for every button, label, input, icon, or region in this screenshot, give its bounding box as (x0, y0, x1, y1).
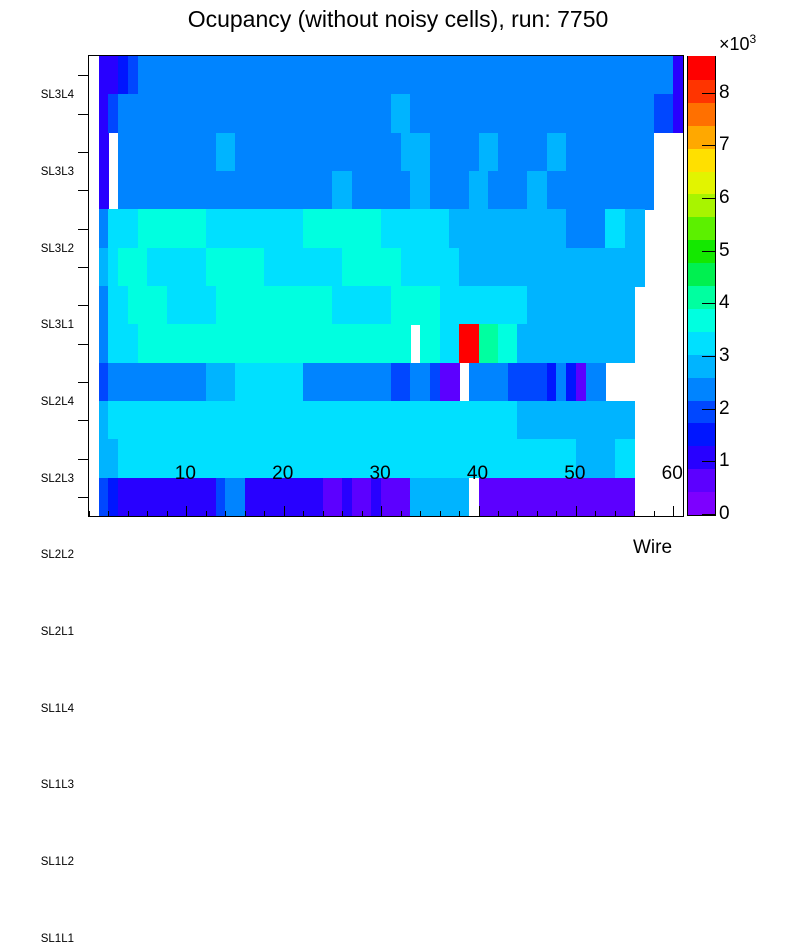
heatmap-cell (586, 363, 606, 402)
heatmap-cell (440, 363, 460, 402)
x-axis-tick-label: 60 (662, 463, 683, 485)
color-scale-band (688, 469, 715, 493)
color-scale-tick-label: 3 (719, 345, 730, 367)
heatmap-cells (89, 56, 683, 516)
heatmap-cell (216, 286, 256, 325)
heatmap-cell (605, 171, 625, 210)
color-scale-tick (702, 303, 715, 304)
y-axis-tick: SL1L1 (78, 497, 89, 498)
heatmap-cell (547, 171, 606, 210)
color-scale-band (688, 377, 715, 401)
heatmap-cell (391, 286, 440, 325)
y-axis-tick: SL2L3 (78, 267, 89, 268)
color-scale-exponent-power: 3 (750, 32, 757, 46)
heatmap-cell (216, 133, 236, 172)
heatmap-cell (303, 363, 391, 402)
heatmap-cell (459, 324, 479, 363)
heatmap-cell (517, 401, 576, 440)
heatmap-cell (673, 56, 683, 95)
x-axis-tick-label: 30 (370, 463, 391, 485)
heatmap-cell (449, 209, 508, 248)
color-scale-bar (687, 56, 716, 516)
heatmap-cell (547, 133, 567, 172)
color-scale-tick (702, 461, 715, 462)
color-scale-band (688, 492, 715, 516)
y-axis-tick-label: SL3L4 (41, 89, 74, 101)
x-axis-minor-tick (225, 511, 226, 517)
heatmap-cell (118, 209, 138, 248)
x-axis-major-tick (576, 506, 577, 517)
color-scale-band (688, 308, 715, 332)
y-axis-tick: SL2L2 (78, 305, 89, 306)
heatmap-cell (605, 401, 635, 440)
x-axis-major-tick (186, 506, 187, 517)
heatmap-cell (430, 171, 470, 210)
color-scale-band (688, 331, 715, 355)
color-scale-band (688, 446, 715, 470)
heatmap-cell (527, 171, 547, 210)
heatmap-cell (284, 324, 411, 363)
heatmap-cell (420, 324, 440, 363)
heatmap-cell (138, 324, 168, 363)
heatmap-cell (216, 324, 246, 363)
heatmap-cell (147, 56, 673, 95)
heatmap-cell (576, 248, 616, 287)
heatmap-cell (206, 209, 304, 248)
heatmap-cell (167, 286, 216, 325)
heatmap-cell (625, 133, 655, 172)
heatmap-cell (634, 94, 654, 133)
heatmap-cell (381, 133, 401, 172)
y-axis-tick-label: SL1L3 (41, 779, 74, 791)
color-scale-tick-label: 0 (719, 503, 730, 525)
heatmap-cell (459, 248, 518, 287)
color-scale-tick-label: 2 (719, 398, 730, 420)
heatmap-cell (625, 171, 655, 210)
y-axis-tick: SL2L4 (78, 229, 89, 230)
color-scale-tick-label: 6 (719, 187, 730, 209)
heatmap-cell (430, 133, 479, 172)
color-scale-tick-label: 4 (719, 292, 730, 314)
heatmap-cell (99, 171, 109, 210)
y-axis-tick-label: SL3L3 (41, 166, 74, 178)
x-axis-major-tick (479, 506, 480, 517)
heatmap-cell (498, 324, 518, 363)
heatmap-cell (527, 286, 576, 325)
heatmap-cell (469, 171, 489, 210)
y-axis-tick: SL1L4 (78, 382, 89, 383)
heatmap-cell (615, 439, 635, 478)
color-scale-tick (702, 251, 715, 252)
heatmap-cell (479, 324, 499, 363)
x-axis-minor-tick (108, 511, 109, 517)
heatmap-cell (625, 209, 645, 248)
heatmap-cell (566, 133, 625, 172)
heatmap-cell (440, 324, 460, 363)
heatmap-cell (605, 209, 625, 248)
color-scale-band (688, 102, 715, 126)
heatmap-cell (332, 286, 391, 325)
color-scale-tick (702, 198, 715, 199)
heatmap-cell (576, 286, 606, 325)
heatmap-cell (118, 324, 138, 363)
heatmap-cell (488, 171, 528, 210)
x-axis-tick-label: 50 (564, 463, 585, 485)
color-scale-band (688, 423, 715, 447)
x-axis-minor-tick (537, 511, 538, 517)
heatmap-cell (206, 248, 265, 287)
color-scale-band (688, 171, 715, 195)
page-title: Ocupancy (without noisy cells), run: 775… (0, 6, 796, 33)
x-axis-minor-tick (206, 511, 207, 517)
color-scale-tick-label: 1 (719, 450, 730, 472)
heatmap-cell (401, 248, 460, 287)
y-axis-tick: SL1L2 (78, 459, 89, 460)
x-axis-major-tick (673, 506, 674, 517)
heatmap-cell (245, 324, 285, 363)
heatmap-cell (410, 363, 430, 402)
heatmap-cell (391, 94, 411, 133)
color-scale-tick (702, 409, 715, 410)
heatmap-cell (108, 286, 128, 325)
heatmap-cell (352, 171, 411, 210)
heatmap-cell (381, 401, 518, 440)
y-axis-tick-label: SL2L4 (41, 396, 74, 408)
heatmap-cell (99, 133, 109, 172)
heatmap-cell (508, 209, 567, 248)
heatmap-cell (410, 171, 430, 210)
heatmap-cell (264, 248, 343, 287)
heatmap-cell (332, 171, 352, 210)
x-axis-minor-tick (556, 511, 557, 517)
color-scale-tick-label: 7 (719, 134, 730, 156)
heatmap-cell (128, 286, 168, 325)
x-axis-minor-tick (342, 511, 343, 517)
heatmap-cell (566, 209, 606, 248)
y-axis-tick: SL3L1 (78, 190, 89, 191)
heatmap-cell (615, 248, 645, 287)
color-scale-band (688, 263, 715, 287)
heatmap-cell (235, 133, 382, 172)
heatmap-cell (576, 324, 635, 363)
heatmap-cell (147, 248, 206, 287)
heatmap-cell (654, 94, 674, 133)
heatmap-frame: SL3L4SL3L3SL3L2SL3L1SL2L4SL2L3SL2L2SL2L1… (88, 55, 684, 517)
color-scale-tick (702, 93, 715, 94)
x-axis-minor-tick (89, 511, 90, 517)
x-axis-minor-tick (323, 511, 324, 517)
x-axis-minor-tick (595, 511, 596, 517)
heatmap-cell (556, 94, 635, 133)
y-axis-tick-label: SL1L1 (41, 933, 74, 945)
color-scale-exponent: ×103 (719, 32, 756, 55)
x-axis-minor-tick (167, 511, 168, 517)
heatmap-cell (401, 133, 431, 172)
color-scale-tick (702, 356, 715, 357)
x-axis-major-tick (381, 506, 382, 517)
color-scale-band (688, 354, 715, 378)
x-axis-minor-tick (362, 511, 363, 517)
heatmap-cell (303, 209, 382, 248)
heatmap-cell (537, 94, 557, 133)
root-canvas: Ocupancy (without noisy cells), run: 775… (0, 0, 796, 572)
heatmap-cell (255, 363, 304, 402)
heatmap-cell (128, 133, 216, 172)
x-axis-minor-tick (634, 511, 635, 517)
heatmap-cell (342, 248, 401, 287)
heatmap-cell (118, 248, 148, 287)
y-axis-tick: SL3L4 (78, 75, 89, 76)
x-axis-minor-tick (264, 511, 265, 517)
heatmap-cell (498, 133, 547, 172)
heatmap-cell (118, 171, 333, 210)
y-axis-tick-label: SL1L4 (41, 703, 74, 715)
heatmap-cell (673, 94, 683, 133)
y-axis-tick-label: SL3L2 (41, 243, 74, 255)
heatmap-cell (323, 478, 343, 516)
y-axis-tick: SL3L2 (78, 152, 89, 153)
x-axis-minor-tick (245, 511, 246, 517)
y-axis-tick-label: SL2L3 (41, 473, 74, 485)
heatmap-cell (255, 286, 334, 325)
heatmap-cell (138, 209, 207, 248)
color-scale-band (688, 148, 715, 172)
x-axis-minor-tick (654, 511, 655, 517)
x-axis-tick-label: 10 (175, 463, 196, 485)
color-scale-tick (702, 145, 715, 146)
heatmap-cell (128, 94, 392, 133)
x-axis-minor-tick (147, 511, 148, 517)
heatmap-cell (469, 363, 509, 402)
color-scale-tick-label: 5 (719, 240, 730, 262)
x-axis-minor-tick (498, 511, 499, 517)
heatmap-cell (479, 133, 499, 172)
heatmap-cell (576, 401, 606, 440)
color-scale-band (688, 217, 715, 241)
color-scale-band (688, 400, 715, 424)
y-axis-tick-label: SL2L2 (41, 549, 74, 561)
x-axis-minor-tick (615, 511, 616, 517)
heatmap-cell (206, 363, 236, 402)
color-scale-tick-label: 8 (719, 82, 730, 104)
x-axis-minor-tick (459, 511, 460, 517)
color-scale-band (688, 56, 715, 80)
heatmap-cell (517, 324, 576, 363)
y-axis-tick-label: SL3L1 (41, 319, 74, 331)
color-scale-band (688, 79, 715, 103)
y-axis-tick: SL3L3 (78, 114, 89, 115)
x-axis-minor-tick (303, 511, 304, 517)
color-scale-band (688, 285, 715, 309)
color-scale-tick (702, 514, 715, 515)
heatmap-cell (410, 94, 537, 133)
heatmap-cell (391, 363, 411, 402)
x-axis-minor-tick (128, 511, 129, 517)
heatmap-cell (479, 286, 528, 325)
heatmap-cell (235, 363, 255, 402)
heatmap-cell (605, 286, 635, 325)
heatmap-cell (167, 324, 216, 363)
y-axis-tick: SL1L3 (78, 420, 89, 421)
heatmap-cell (381, 209, 450, 248)
y-axis-tick: SL2L1 (78, 344, 89, 345)
x-axis-tick-label: 40 (467, 463, 488, 485)
x-axis-title: Wire (633, 537, 672, 559)
heatmap-cell (440, 286, 480, 325)
heatmap-cell (508, 363, 548, 402)
heatmap-cell (118, 401, 382, 440)
y-axis-tick-label: SL2L1 (41, 626, 74, 638)
x-axis-tick-label: 20 (272, 463, 293, 485)
y-axis-tick-label: SL1L2 (41, 856, 74, 868)
heatmap-cell (517, 248, 576, 287)
heatmap-cell (225, 478, 245, 516)
x-axis-minor-tick (440, 511, 441, 517)
x-axis-minor-tick (401, 511, 402, 517)
heatmap-cell (108, 363, 206, 402)
x-axis-minor-tick (420, 511, 421, 517)
x-axis-major-tick (284, 506, 285, 517)
x-axis-minor-tick (517, 511, 518, 517)
